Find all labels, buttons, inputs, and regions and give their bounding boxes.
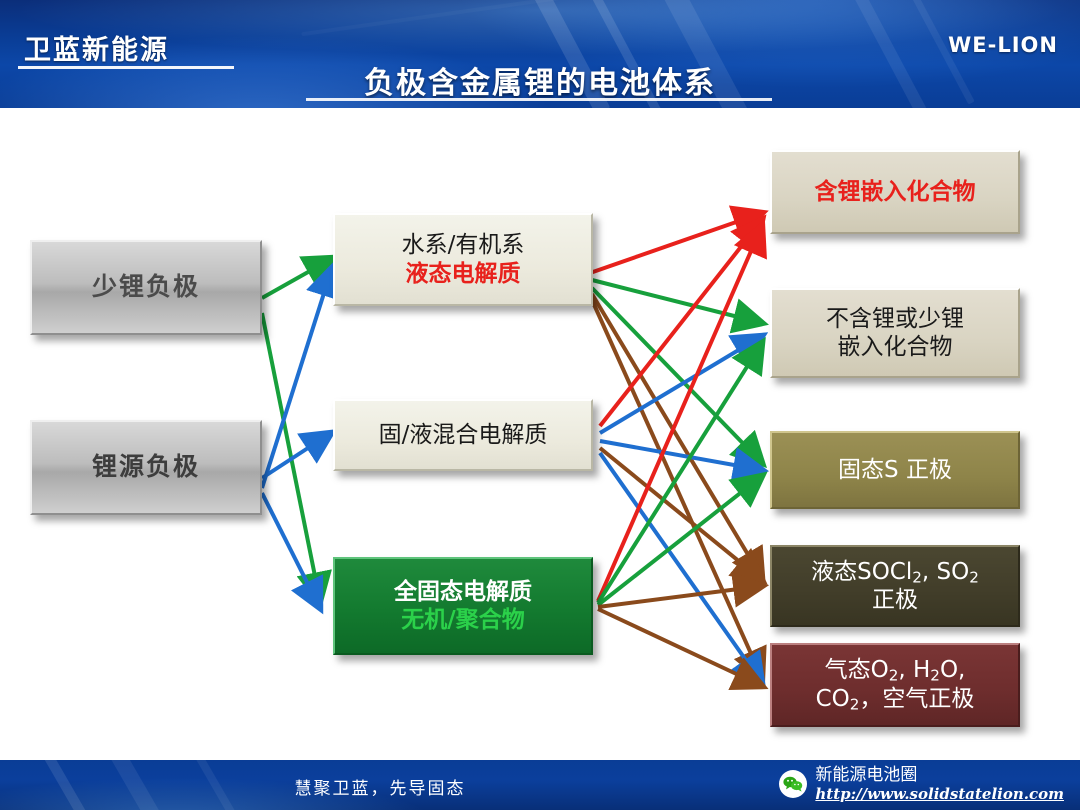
node-gas-air-cathode[interactable]: 气态O2, H2O, CO2，空气正极	[770, 643, 1020, 727]
node-li-source-anode-label: 锂源负极	[32, 452, 260, 483]
wechat-block[interactable]: 新能源电池圈 http://www.solidstatelion.com	[779, 766, 1064, 803]
title-underline	[306, 98, 772, 101]
node-solid-s-cathode-label: 固态S 正极	[772, 456, 1018, 484]
node-li-free-intercalation-line1: 不含锂或少锂	[778, 305, 1012, 333]
arrow-liquid-to-licontaining	[590, 213, 762, 273]
node-liquid-socl2-so2[interactable]: 液态SOCl2, SO2 正极	[770, 545, 1020, 627]
node-liquid-socl2-so2-line2: 正极	[778, 586, 1012, 614]
node-solid-electrolyte[interactable]: 全固态电解质 无机/聚合物	[333, 557, 593, 655]
node-liquid-electrolyte-line1: 水系/有机系	[341, 231, 585, 259]
slide-title: 负极含金属锂的电池体系	[0, 58, 1080, 102]
node-gas-air-cathode-line1: 气态O2, H2O,	[778, 656, 1012, 685]
arrow-solid-to-socl2	[598, 586, 762, 607]
node-few-li-anode-label: 少锂负极	[32, 272, 260, 303]
node-li-source-anode[interactable]: 锂源负极	[30, 420, 262, 515]
node-li-containing-intercalation-label: 含锂嵌入化合物	[772, 178, 1018, 206]
diagram-canvas: 少锂负极 锂源负极 水系/有机系 液态电解质 固/液混合电解质 全固态电解质 无…	[0, 108, 1080, 760]
website-url[interactable]: http://www.solidstatelion.com	[815, 786, 1064, 803]
wechat-texts: 新能源电池圈 http://www.solidstatelion.com	[815, 766, 1064, 803]
node-li-free-intercalation-line2: 嵌入化合物	[778, 333, 1012, 361]
node-liquid-socl2-so2-line1: 液态SOCl2, SO2	[778, 558, 1012, 587]
node-hybrid-electrolyte[interactable]: 固/液混合电解质	[333, 399, 593, 471]
welion-logo: WE-LION	[948, 33, 1058, 57]
footer-slogan: 慧聚卫蓝，先导固态	[0, 774, 760, 799]
node-solid-s-cathode[interactable]: 固态S 正极	[770, 431, 1020, 509]
slide-header: 卫蓝新能源 WE-LION 负极含金属锂的电池体系	[0, 0, 1080, 108]
arrow-liquid-to-gas	[592, 300, 762, 678]
node-solid-electrolyte-line1: 全固态电解质	[341, 578, 585, 606]
node-liquid-electrolyte-line2: 液态电解质	[341, 260, 585, 288]
node-few-li-anode[interactable]: 少锂负极	[30, 240, 262, 335]
node-gas-air-cathode-line2: CO2，空气正极	[778, 685, 1012, 714]
slide-footer: 慧聚卫蓝，先导固态 新能源电池圈 http://www.solidstateli…	[0, 760, 1080, 810]
wechat-icon[interactable]	[779, 770, 807, 798]
wechat-account-name: 新能源电池圈	[815, 766, 1064, 786]
node-li-free-intercalation[interactable]: 不含锂或少锂 嵌入化合物	[770, 288, 1020, 378]
arrow-solid-to-licontaining	[598, 226, 762, 601]
node-li-containing-intercalation[interactable]: 含锂嵌入化合物	[770, 150, 1020, 234]
node-liquid-electrolyte[interactable]: 水系/有机系 液态电解质	[333, 213, 593, 306]
node-solid-electrolyte-line2: 无机/聚合物	[341, 606, 585, 634]
node-hybrid-electrolyte-label: 固/液混合电解质	[335, 421, 591, 449]
